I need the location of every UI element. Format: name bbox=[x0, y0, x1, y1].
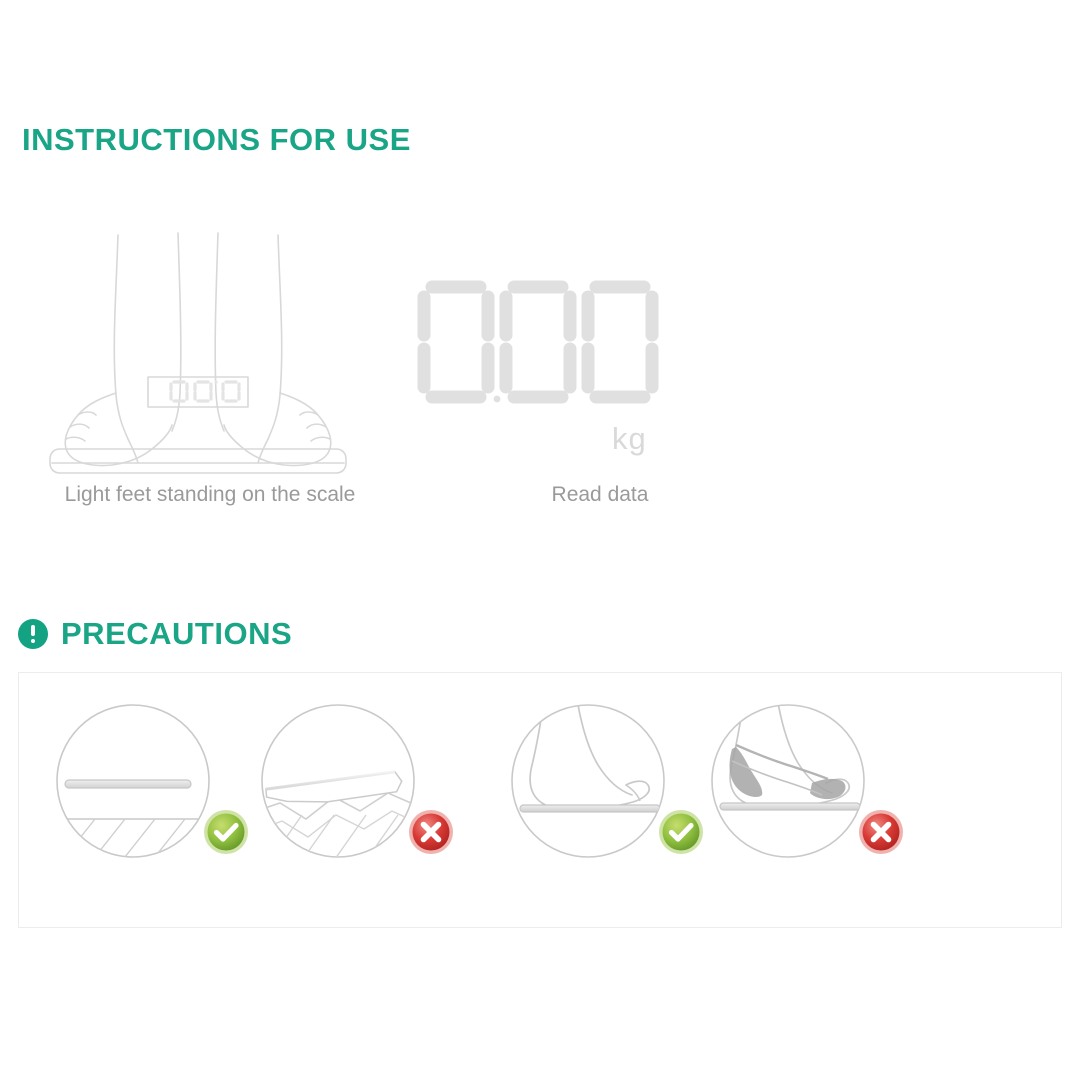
lcd-unit-label: kg bbox=[612, 421, 647, 457]
precautions-heading: PRECAUTIONS bbox=[18, 616, 292, 652]
instruction-step-stand: Light feet standing on the scale bbox=[0, 225, 420, 545]
precaution-item-socked-foot bbox=[706, 691, 906, 871]
instruction-step-read: kg Read data bbox=[390, 225, 810, 545]
instruction-steps: Light feet standing on the scale bbox=[0, 225, 1080, 545]
precautions-item-list bbox=[19, 673, 1063, 927]
lcd-reading bbox=[418, 279, 678, 409]
precaution-item-hard-flat-floor bbox=[51, 691, 251, 871]
step-caption: Read data bbox=[390, 483, 810, 507]
precaution-item-bare-foot bbox=[506, 691, 706, 871]
exclamation-circle-icon bbox=[18, 619, 48, 649]
feet-on-scale-illustration bbox=[0, 225, 420, 475]
precautions-panel bbox=[18, 672, 1062, 928]
check-circle-icon bbox=[203, 809, 249, 855]
lcd-readout-illustration: kg bbox=[390, 225, 810, 475]
instructions-for-use-title: INSTRUCTIONS FOR USE bbox=[22, 122, 411, 158]
cross-circle-icon bbox=[408, 809, 454, 855]
check-circle-icon bbox=[658, 809, 704, 855]
instructions-page: INSTRUCTIONS FOR USE bbox=[0, 0, 1080, 1080]
step-caption: Light feet standing on the scale bbox=[0, 483, 420, 507]
cross-circle-icon bbox=[858, 809, 904, 855]
precaution-item-uneven-soft-floor bbox=[256, 691, 456, 871]
precautions-title: PRECAUTIONS bbox=[61, 616, 292, 652]
